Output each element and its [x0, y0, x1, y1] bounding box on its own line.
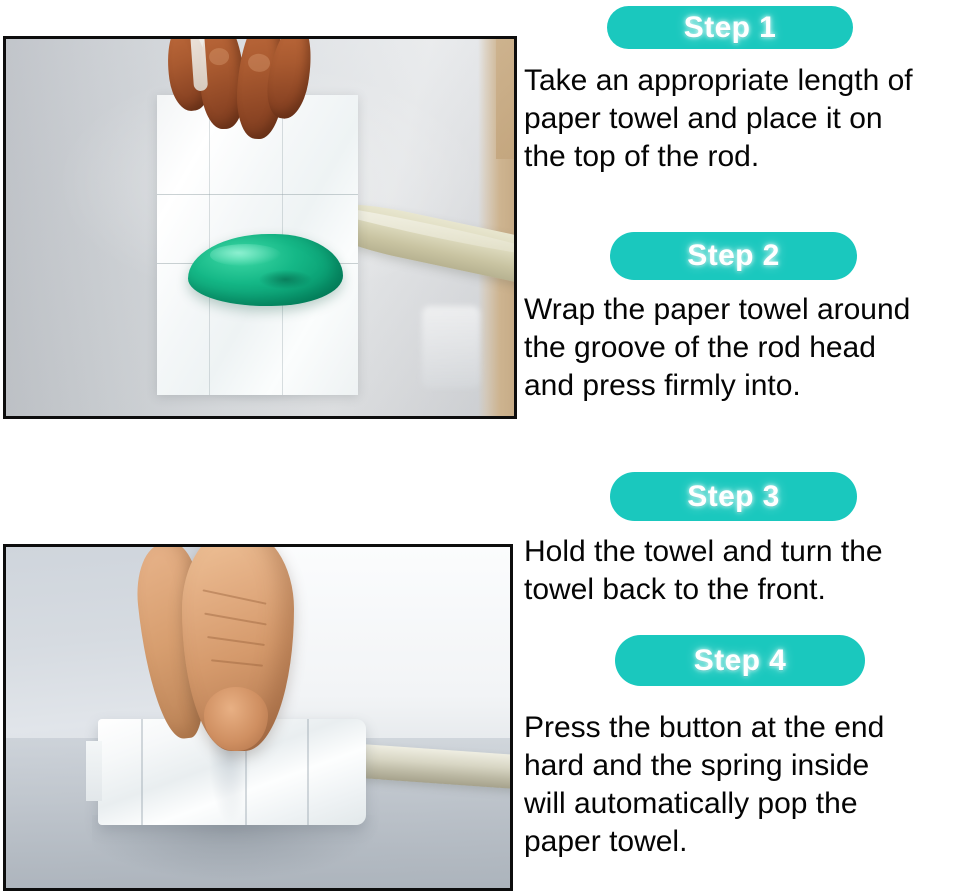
skin-wrinkle — [203, 589, 267, 604]
rod-head-highlight — [210, 244, 281, 266]
towel-crease — [141, 719, 143, 825]
step-photo-top — [3, 36, 517, 419]
step-text-3: Hold the towel and turn the towel back t… — [524, 533, 979, 609]
step-badge-1: Step 1 — [607, 6, 853, 49]
step-text-2: Wrap the paper towel around the groove o… — [524, 291, 979, 405]
hand-bottom — [146, 547, 336, 759]
skin-wrinkle — [211, 660, 262, 667]
instructions-column: Step 1 Take an appropriate length of pap… — [518, 0, 979, 891]
step-badge-4: Step 4 — [615, 635, 865, 686]
knuckle — [208, 47, 229, 66]
hand-top — [166, 39, 314, 151]
wooden-edge-upper — [496, 39, 514, 159]
photo-top-scene — [6, 39, 514, 416]
skin-wrinkle — [207, 636, 265, 646]
step-block-3: Step 3 Hold the towel and turn the towel… — [518, 472, 979, 609]
step-text-4: Press the button at the end hard and the… — [524, 709, 979, 861]
photo-bottom-scene — [6, 547, 510, 888]
rod-head-shadow — [259, 270, 312, 289]
step-badge-3: Step 3 — [610, 472, 857, 521]
step-block-2: Step 2 Wrap the paper towel around the g… — [518, 232, 979, 405]
step-block-4: Step 4 Press the button at the end hard … — [518, 635, 979, 861]
step-photo-bottom — [3, 544, 513, 891]
towel-step-edge — [86, 741, 102, 801]
background-bottle — [422, 306, 480, 388]
step-badge-2: Step 2 — [610, 232, 857, 280]
skin-wrinkle — [205, 612, 267, 625]
step-block-1: Step 1 Take an appropriate length of pap… — [518, 6, 979, 176]
step-text-1: Take an appropriate length of paper towe… — [524, 62, 979, 176]
towel-seam — [157, 194, 358, 195]
knuckle — [248, 53, 271, 73]
